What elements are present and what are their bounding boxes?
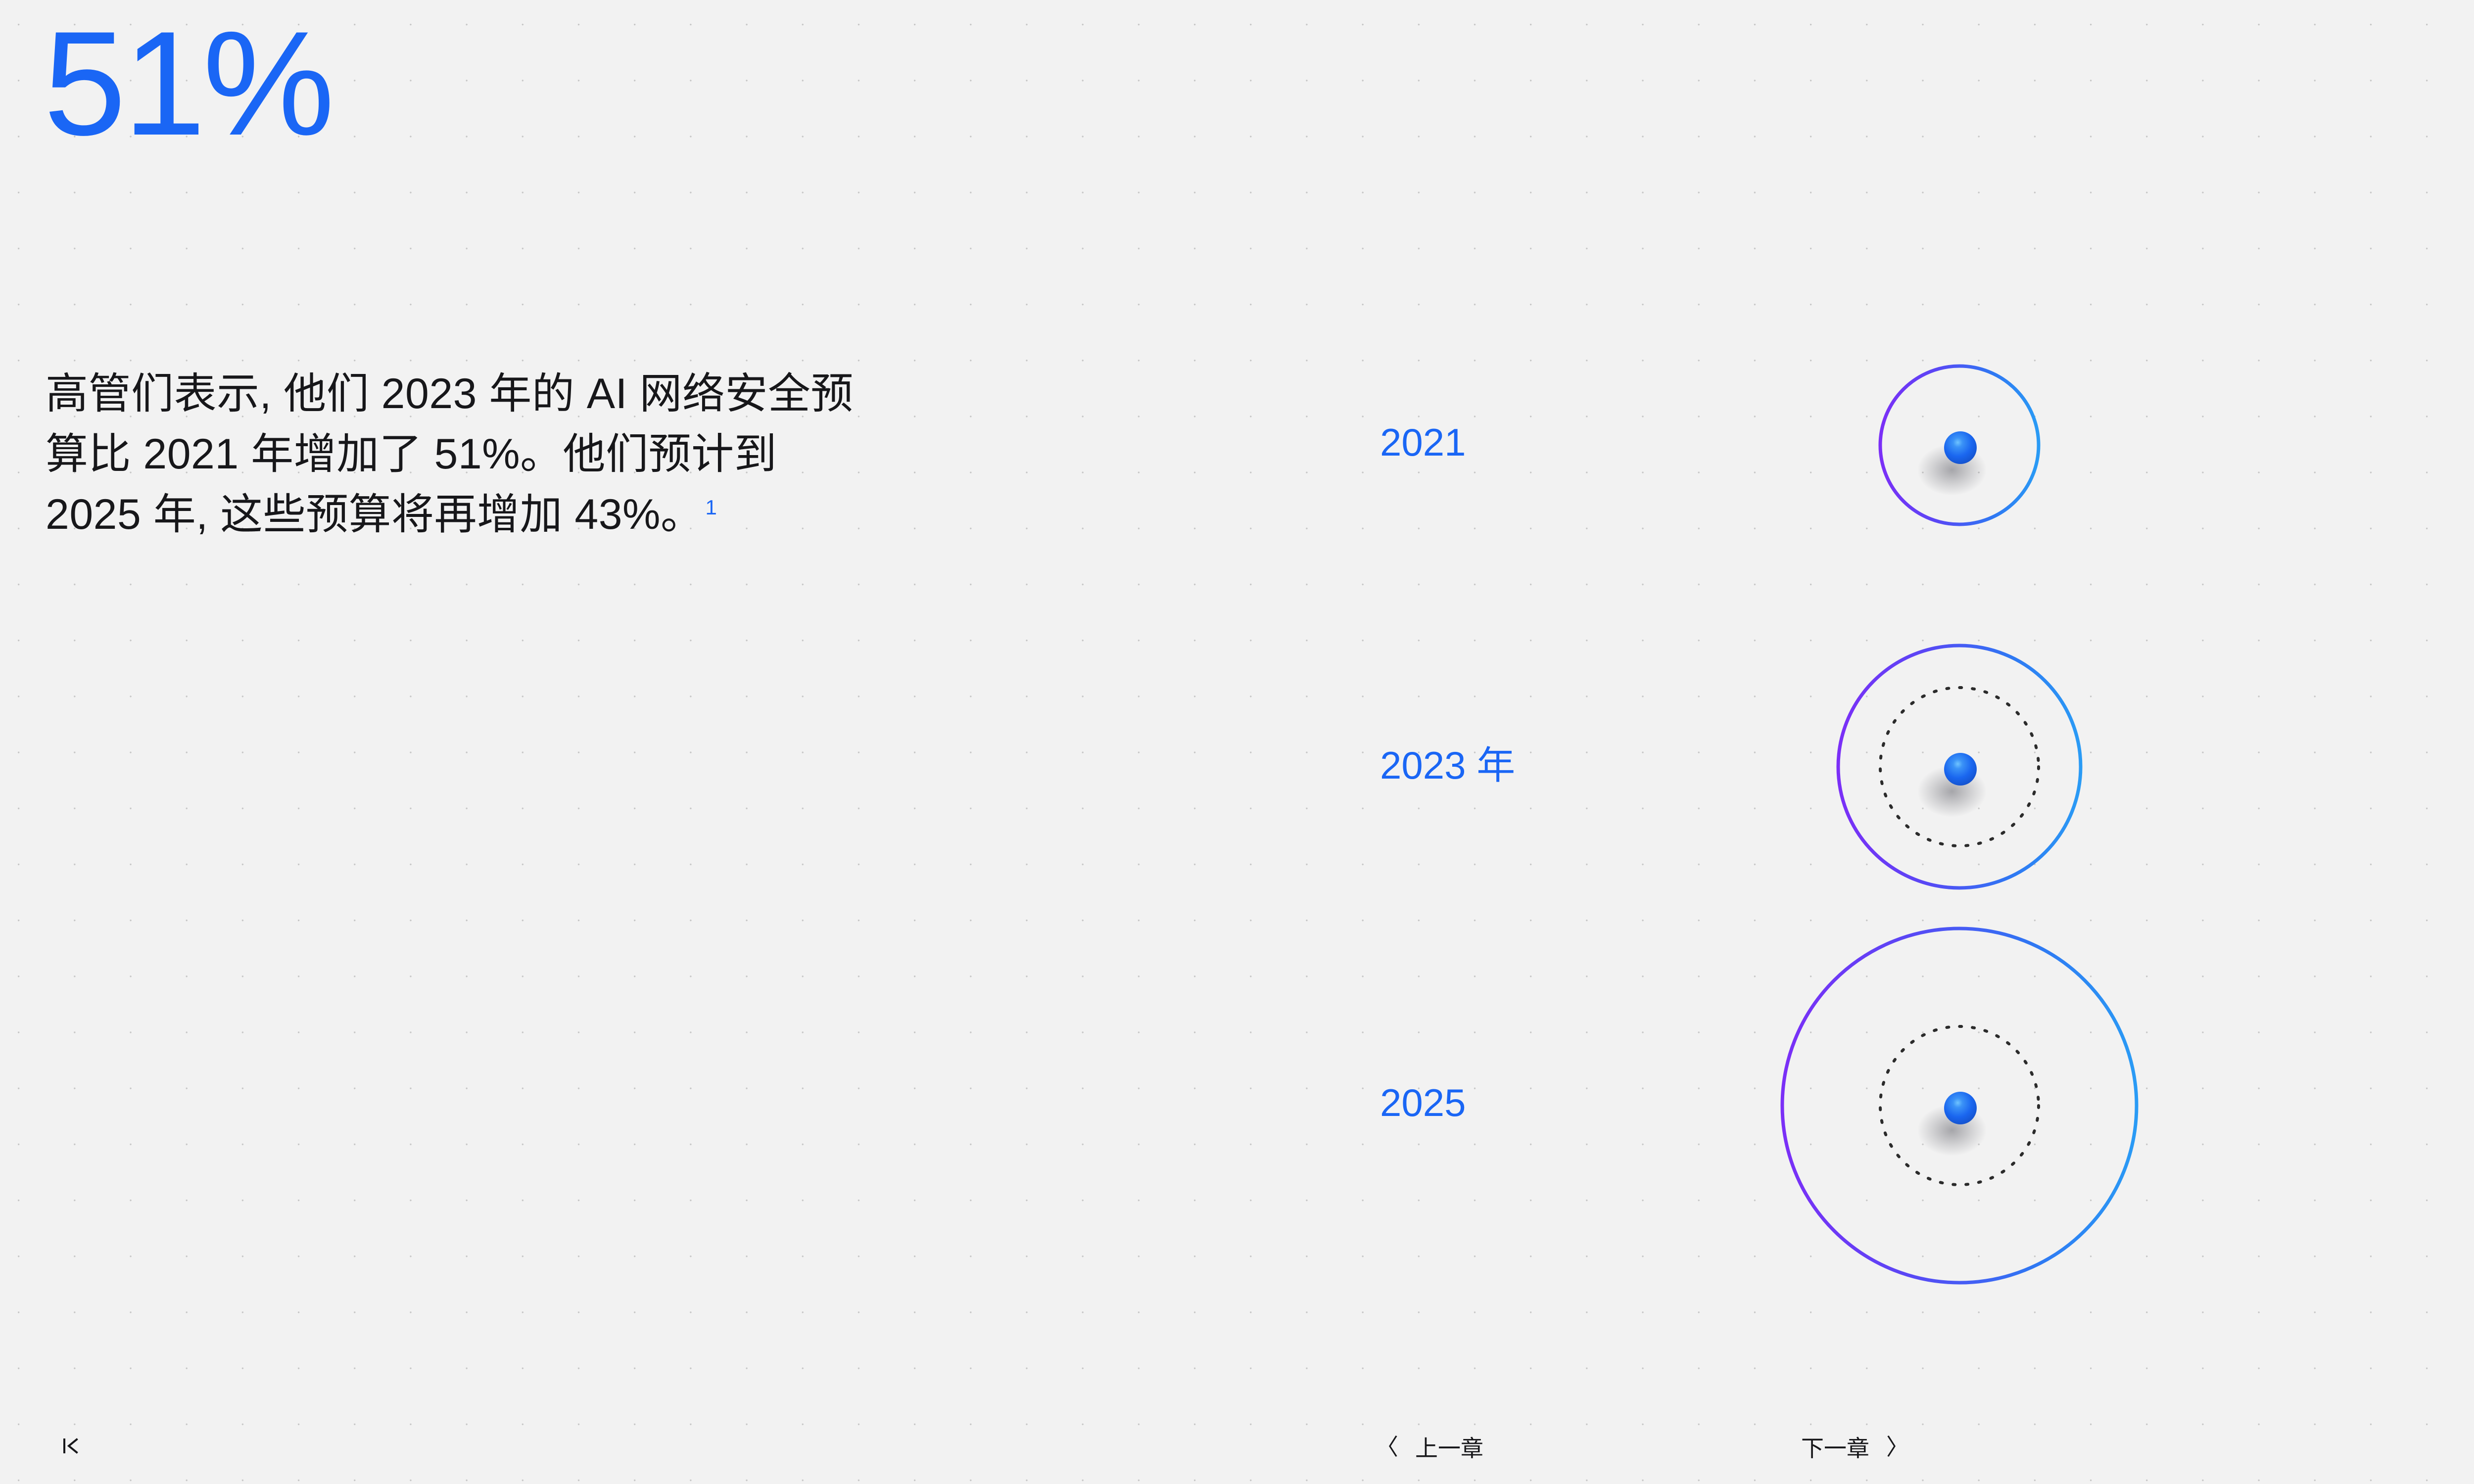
- outer-ring-2023: [1838, 646, 2081, 888]
- chevron-right-icon: 〉: [1886, 1436, 1909, 1458]
- page-stat-value: 51%: [44, 9, 332, 157]
- sphere-shadow-2021: [1917, 444, 1987, 496]
- bubble-group-2023: [1509, 646, 2081, 888]
- footer-bar: 〈 上一章 下一章 〉 8: [0, 1410, 2474, 1484]
- bubble-label-2021: 2021: [1380, 423, 1466, 462]
- bubble-diagram: [0, 0, 2474, 1484]
- next-chapter-label: 下一章: [1801, 1431, 1869, 1463]
- bubble-group-2021: [1508, 366, 2039, 524]
- bubble-label-2023: 2023 年: [1380, 746, 1515, 785]
- skip-to-start-button[interactable]: [53, 1429, 88, 1463]
- sphere-shadow-2023: [1917, 766, 1987, 817]
- inner-dotted-ring-2023: [1880, 688, 2039, 846]
- next-chapter-button[interactable]: 下一章 〉: [1801, 1431, 1909, 1463]
- center-sphere-2025: [1944, 1092, 1977, 1124]
- skip-to-start-icon: [60, 1435, 82, 1457]
- prev-chapter-label: 上一章: [1415, 1431, 1483, 1463]
- center-sphere-2023: [1944, 753, 1977, 786]
- chevron-left-icon: 〈: [1376, 1436, 1398, 1458]
- sphere-shadow-2025: [1917, 1105, 1987, 1156]
- prev-chapter-button[interactable]: 〈 上一章: [1376, 1431, 1483, 1463]
- bubble-label-2025: 2025: [1380, 1083, 1466, 1122]
- body-paragraph: 高管们表示, 他们 2023 年的 AI 网络安全预算比 2021 年增加了 5…: [46, 364, 857, 545]
- body-text: 高管们表示, 他们 2023 年的 AI 网络安全预算比 2021 年增加了 5…: [46, 370, 854, 538]
- inner-dotted-ring-2025: [1880, 1026, 2039, 1185]
- bubble-group-2025: [1508, 928, 2137, 1283]
- footnote-marker: 1: [706, 496, 717, 519]
- slide-page: 51% 高管们表示, 他们 2023 年的 AI 网络安全预算比 2021 年增…: [0, 0, 2474, 1484]
- center-sphere-2021: [1944, 431, 1977, 464]
- outer-ring-2025: [1782, 928, 2137, 1283]
- outer-ring-2021: [1880, 366, 2039, 524]
